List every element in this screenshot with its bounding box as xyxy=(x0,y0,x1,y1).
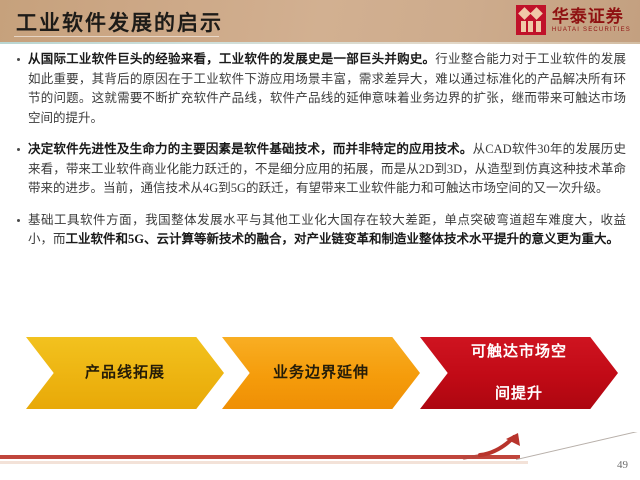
bullet-dot-icon xyxy=(17,58,20,61)
footer-rule-pale xyxy=(0,461,528,464)
bullet-paragraph-2: 决定软件先进性及生命力的主要因素是软件基础技术，而并非特定的应用技术。从CAD软… xyxy=(14,140,626,199)
brand-logo-text: 华泰证券 HUATAI SECURITIES xyxy=(552,8,631,33)
flow-step-2[interactable]: 业务边界延伸 xyxy=(222,337,420,409)
process-flow: 产品线拓展 业务边界延伸 可触达市场空 间提升 xyxy=(0,337,640,413)
rising-arrow-icon xyxy=(462,432,532,464)
huatai-diamond-logo-icon xyxy=(516,5,546,35)
flow-step-3-label-line1: 可触达市场空 xyxy=(457,342,581,363)
bullet-paragraph-3: 基础工具软件方面，我国整体发展水平与其他工业化大国存在较大差距，单点突破弯道超车… xyxy=(14,211,626,250)
brand-logo: 华泰证券 HUATAI SECURITIES xyxy=(516,5,631,35)
brand-name-cn: 华泰证券 xyxy=(552,8,631,25)
bullet-paragraph-1: 从国际工业软件巨头的经验来看，工业软件的发展史是一部巨头并购史。行业整合能力对于… xyxy=(14,50,626,128)
page-number: 49 xyxy=(617,459,628,471)
slide-body: 从国际工业软件巨头的经验来看，工业软件的发展史是一部巨头并购史。行业整合能力对于… xyxy=(0,50,640,262)
footer-rule xyxy=(0,455,520,459)
brand-name-en: HUATAI SECURITIES xyxy=(552,27,631,33)
bullet-dot-icon xyxy=(17,219,20,222)
slide-header: 工业软件发展的启示 华泰证券 HUATAI SECURITIES xyxy=(0,0,640,44)
paragraph-3-bold: 工业软件和5G、云计算等新技术的融合，对产业链变革和制造业整体技术水平提升的意义… xyxy=(66,232,619,246)
flow-step-1-label: 产品线拓展 xyxy=(71,363,179,384)
flow-step-2-label: 业务边界延伸 xyxy=(259,363,383,384)
bullet-dot-icon xyxy=(17,148,20,151)
paragraph-1-bold: 从国际工业软件巨头的经验来看，工业软件的发展史是一部巨头并购史。 xyxy=(28,52,435,66)
flow-step-1[interactable]: 产品线拓展 xyxy=(26,337,224,409)
flow-step-3-label: 可触达市场空 间提升 xyxy=(443,342,595,405)
footer-diagonal-line xyxy=(516,432,640,462)
paragraph-2-bold: 决定软件先进性及生命力的主要因素是软件基础技术，而并非特定的应用技术。 xyxy=(28,142,473,156)
title-underline xyxy=(14,36,219,37)
flow-step-3-label-line2: 间提升 xyxy=(457,384,581,405)
flow-step-3[interactable]: 可触达市场空 间提升 xyxy=(420,337,618,409)
page-title: 工业软件发展的启示 xyxy=(16,7,223,37)
